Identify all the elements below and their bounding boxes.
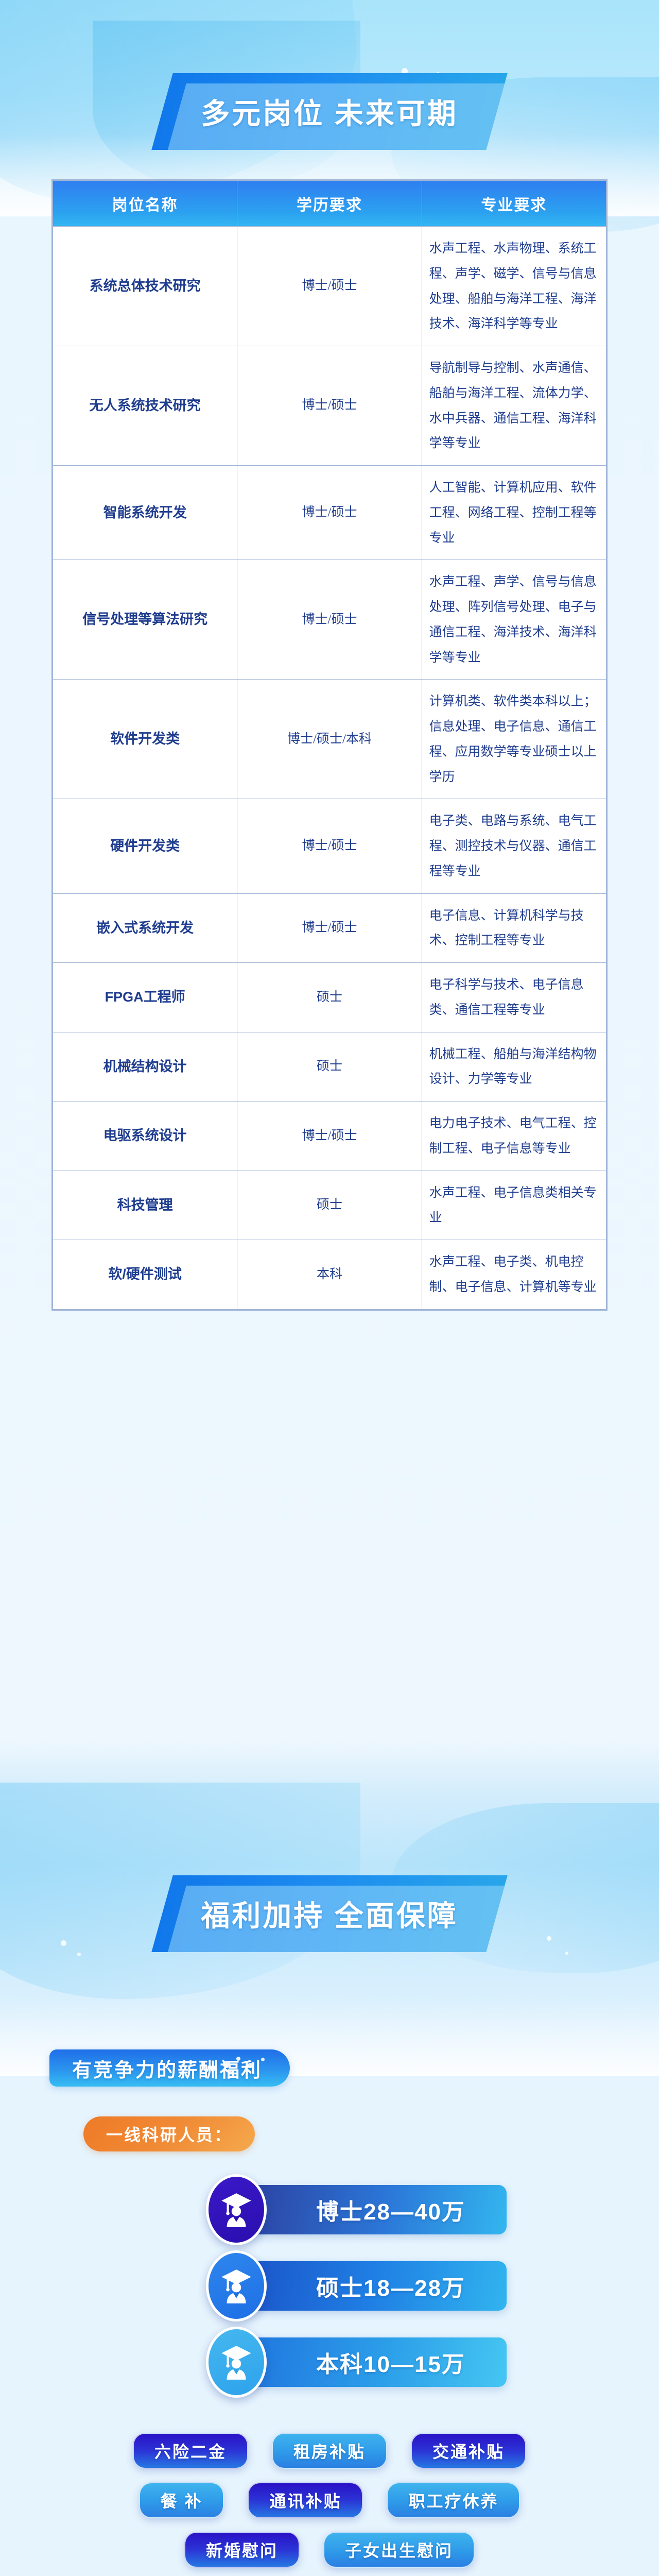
cell-job-title: 机械结构设计 bbox=[53, 1032, 237, 1101]
banner-slash-group-bottom bbox=[420, 152, 492, 165]
researcher-group-label: 一线科研人员： bbox=[83, 2116, 255, 2151]
banner-slash bbox=[435, 1955, 472, 1968]
salary-row-bachelor: 本科10—15万 bbox=[206, 2327, 507, 2398]
salary-bar-master: 硕士18—28万 bbox=[239, 2261, 507, 2311]
benefit-tag[interactable]: 交通补贴 bbox=[411, 2433, 526, 2469]
cell-education: 博士/硕士 bbox=[237, 346, 422, 466]
salary-label-master: 硕士18—28万 bbox=[316, 2269, 465, 2302]
cell-job-title: 系统总体技术研究 bbox=[53, 227, 237, 346]
cell-education: 博士/硕士 bbox=[237, 227, 422, 346]
cell-job-title: 无人系统技术研究 bbox=[53, 346, 237, 466]
benefit-tag-label: 职工疗休养 bbox=[408, 2488, 498, 2512]
banner-slash bbox=[175, 58, 189, 70]
cell-major: 水声工程、声学、信号与信息处理、阵列信号处理、电子与通信工程、海洋技术、海洋科学… bbox=[422, 560, 606, 680]
cell-job-title: 软/硬件测试 bbox=[53, 1240, 237, 1310]
table-row: 硬件开发类 博士/硕士 电子类、电路与系统、电气工程、测控技术与仪器、通信工程等… bbox=[53, 799, 606, 893]
cell-education: 博士/硕士 bbox=[237, 1101, 422, 1171]
banner-slash bbox=[470, 153, 484, 165]
cell-job-title: FPGA工程师 bbox=[53, 963, 237, 1032]
graduation-cap-icon bbox=[206, 2174, 267, 2245]
benefit-tag-label: 交通补贴 bbox=[432, 2439, 505, 2463]
cell-job-title: 嵌入式系统开发 bbox=[53, 893, 237, 963]
salary-bar-phd: 博士28—40万 bbox=[239, 2185, 507, 2234]
cell-job-title: 硬件开发类 bbox=[53, 799, 237, 893]
salary-row-phd: 博士28—40万 bbox=[206, 2174, 507, 2245]
cell-job-title: 科技管理 bbox=[53, 1171, 237, 1240]
graduation-cap-icon bbox=[206, 2250, 267, 2321]
cell-major: 电子科学与技术、电子信息类、通信工程等专业 bbox=[422, 963, 606, 1032]
benefit-tag-label: 租房补贴 bbox=[293, 2439, 366, 2463]
cell-education: 博士/硕士 bbox=[237, 466, 422, 560]
table-row: 系统总体技术研究 博士/硕士 水声工程、水声物理、系统工程、声学、磁学、信号与信… bbox=[53, 227, 606, 346]
cell-major: 水声工程、电子类、机电控制、电子信息、计算机等专业 bbox=[422, 1240, 606, 1310]
benefit-tag-label: 六险二金 bbox=[154, 2439, 227, 2463]
benefit-tags-group: 六险二金 租房补贴 交通补贴 餐 补 通讯补贴 职工疗休养 新婚慰问 bbox=[0, 2433, 659, 2576]
benefit-tag-row: 餐 补 通讯补贴 职工疗休养 bbox=[0, 2482, 659, 2518]
banner-slash-group-bottom bbox=[420, 1954, 492, 1968]
banner-slash bbox=[187, 58, 224, 70]
cell-major: 电子类、电路与系统、电气工程、测控技术与仪器、通信工程等专业 bbox=[422, 799, 606, 893]
salary-label-phd: 博士28—40万 bbox=[316, 2193, 465, 2226]
cell-job-title: 电驱系统设计 bbox=[53, 1101, 237, 1171]
banner-slash bbox=[435, 153, 472, 165]
salary-label-bachelor: 本科10—15万 bbox=[316, 2346, 465, 2379]
table-row: 软件开发类 博士/硕士/本科 计算机类、软件类本科以上；信息处理、电子信息、通信… bbox=[53, 680, 606, 799]
cell-job-title: 软件开发类 bbox=[53, 680, 237, 799]
researcher-group-label-text: 一线科研人员： bbox=[106, 2122, 232, 2146]
benefit-tag[interactable]: 职工疗休养 bbox=[387, 2482, 520, 2518]
benefit-tag[interactable]: 新婚慰问 bbox=[184, 2532, 300, 2568]
banner-slash bbox=[481, 1955, 495, 1968]
jobs-banner-body: 多元岗位 未来可期 bbox=[151, 73, 508, 150]
cell-major: 电力电子技术、电气工程、控制工程、电子信息等专业 bbox=[422, 1101, 606, 1171]
table-row: 电驱系统设计 博士/硕士 电力电子技术、电气工程、控制工程、电子信息等专业 bbox=[53, 1101, 606, 1171]
table-row: 嵌入式系统开发 博士/硕士 电子信息、计算机科学与技术、控制工程等专业 bbox=[53, 893, 606, 963]
banner-slash bbox=[187, 1860, 224, 1872]
cell-education: 本科 bbox=[237, 1240, 422, 1310]
benefit-tag-label: 子女出生慰问 bbox=[345, 2538, 453, 2562]
banner-slash bbox=[164, 58, 178, 70]
graduation-cap-icon bbox=[206, 2327, 267, 2398]
recruitment-poster: 多元岗位 未来可期 岗位名称 学历要求 专业要求 系统总体技术研究 博士/硕士 … bbox=[0, 0, 659, 2576]
table-row: 信号处理等算法研究 博士/硕士 水声工程、声学、信号与信息处理、阵列信号处理、电… bbox=[53, 560, 606, 680]
column-header-education: 学历要求 bbox=[237, 181, 422, 227]
jobs-table: 岗位名称 学历要求 专业要求 系统总体技术研究 博士/硕士 水声工程、水声物理、… bbox=[53, 180, 606, 1310]
cell-major: 导航制导与控制、水声通信、船舶与海洋工程、流体力学、水中兵器、通信工程、海洋科学… bbox=[422, 346, 606, 466]
cell-education: 博士/硕士 bbox=[237, 799, 422, 893]
banner-slash bbox=[470, 1955, 484, 1968]
benefit-tag[interactable]: 餐 补 bbox=[139, 2482, 224, 2518]
bubble-decoration bbox=[77, 1953, 81, 1956]
table-row: 无人系统技术研究 博士/硕士 导航制导与控制、水声通信、船舶与海洋工程、流体力学… bbox=[53, 346, 606, 466]
cell-major: 水声工程、水声物理、系统工程、声学、磁学、信号与信息处理、船舶与海洋工程、海洋技… bbox=[422, 227, 606, 346]
benefits-section-banner: 福利加持 全面保障 bbox=[0, 1875, 659, 1952]
cell-major: 电子信息、计算机科学与技术、控制工程等专业 bbox=[422, 893, 606, 963]
banner-slash bbox=[175, 1860, 189, 1872]
salary-bar-bachelor: 本科10—15万 bbox=[239, 2337, 507, 2387]
benefit-tag-label: 通讯补贴 bbox=[269, 2488, 341, 2512]
table-row: FPGA工程师 硕士 电子科学与技术、电子信息类、通信工程等专业 bbox=[53, 963, 606, 1032]
column-header-major: 专业要求 bbox=[422, 181, 606, 227]
benefits-banner-title: 福利加持 全面保障 bbox=[201, 1893, 458, 1935]
banner-slash-group-top bbox=[167, 58, 239, 71]
banner-slash bbox=[164, 1860, 178, 1872]
cell-job-title: 智能系统开发 bbox=[53, 466, 237, 560]
benefit-tag[interactable]: 六险二金 bbox=[133, 2433, 248, 2469]
benefit-tag[interactable]: 子女出生慰问 bbox=[323, 2532, 475, 2568]
benefits-banner-body: 福利加持 全面保障 bbox=[151, 1875, 508, 1952]
cell-education: 博士/硕士/本科 bbox=[237, 680, 422, 799]
jobs-section-banner: 多元岗位 未来可期 bbox=[0, 73, 659, 150]
benefit-tag[interactable]: 租房补贴 bbox=[272, 2433, 387, 2469]
cell-major: 人工智能、计算机应用、软件工程、网络工程、控制工程等专业 bbox=[422, 466, 606, 560]
benefit-tag-row: 六险二金 租房补贴 交通补贴 bbox=[0, 2433, 659, 2469]
benefit-tag-row: 新婚慰问 子女出生慰问 bbox=[0, 2532, 659, 2568]
jobs-table-header-row: 岗位名称 学历要求 专业要求 bbox=[53, 181, 606, 227]
cell-education: 硕士 bbox=[237, 1032, 422, 1101]
cell-education: 硕士 bbox=[237, 1171, 422, 1240]
jobs-banner-title: 多元岗位 未来可期 bbox=[201, 91, 458, 132]
cell-education: 博士/硕士 bbox=[237, 560, 422, 680]
table-row: 软/硬件测试 本科 水声工程、电子类、机电控制、电子信息、计算机等专业 bbox=[53, 1240, 606, 1310]
cell-job-title: 信号处理等算法研究 bbox=[53, 560, 237, 680]
benefit-tag-label: 新婚慰问 bbox=[206, 2538, 278, 2562]
table-row: 机械结构设计 硕士 机械工程、船舶与海洋结构物设计、力学等专业 bbox=[53, 1032, 606, 1101]
cell-education: 硕士 bbox=[237, 963, 422, 1032]
cell-major: 机械工程、船舶与海洋结构物设计、力学等专业 bbox=[422, 1032, 606, 1101]
salary-row-master: 硕士18—28万 bbox=[206, 2250, 507, 2321]
jobs-table-card: 岗位名称 学历要求 专业要求 系统总体技术研究 博士/硕士 水声工程、水声物理、… bbox=[51, 179, 608, 1311]
benefit-tag-label: 餐 补 bbox=[161, 2488, 203, 2512]
salary-section-flag: 有竞争力的薪酬福利 bbox=[49, 2049, 290, 2087]
flag-bubbles-decoration bbox=[219, 2056, 281, 2080]
column-header-job-title: 岗位名称 bbox=[53, 181, 237, 227]
table-row: 科技管理 硕士 水声工程、电子信息类相关专业 bbox=[53, 1171, 606, 1240]
cell-major: 水声工程、电子信息类相关专业 bbox=[422, 1171, 606, 1240]
banner-slash-group-top bbox=[167, 1860, 239, 1873]
banner-slash bbox=[481, 153, 495, 165]
cell-education: 博士/硕士 bbox=[237, 893, 422, 963]
benefit-tag[interactable]: 通讯补贴 bbox=[248, 2482, 363, 2518]
jobs-table-head: 岗位名称 学历要求 专业要求 bbox=[53, 181, 606, 227]
table-row: 智能系统开发 博士/硕士 人工智能、计算机应用、软件工程、网络工程、控制工程等专… bbox=[53, 466, 606, 560]
cell-major: 计算机类、软件类本科以上；信息处理、电子信息、通信工程、应用数学等专业硕士以上学… bbox=[422, 680, 606, 799]
jobs-table-body: 系统总体技术研究 博士/硕士 水声工程、水声物理、系统工程、声学、磁学、信号与信… bbox=[53, 227, 606, 1310]
